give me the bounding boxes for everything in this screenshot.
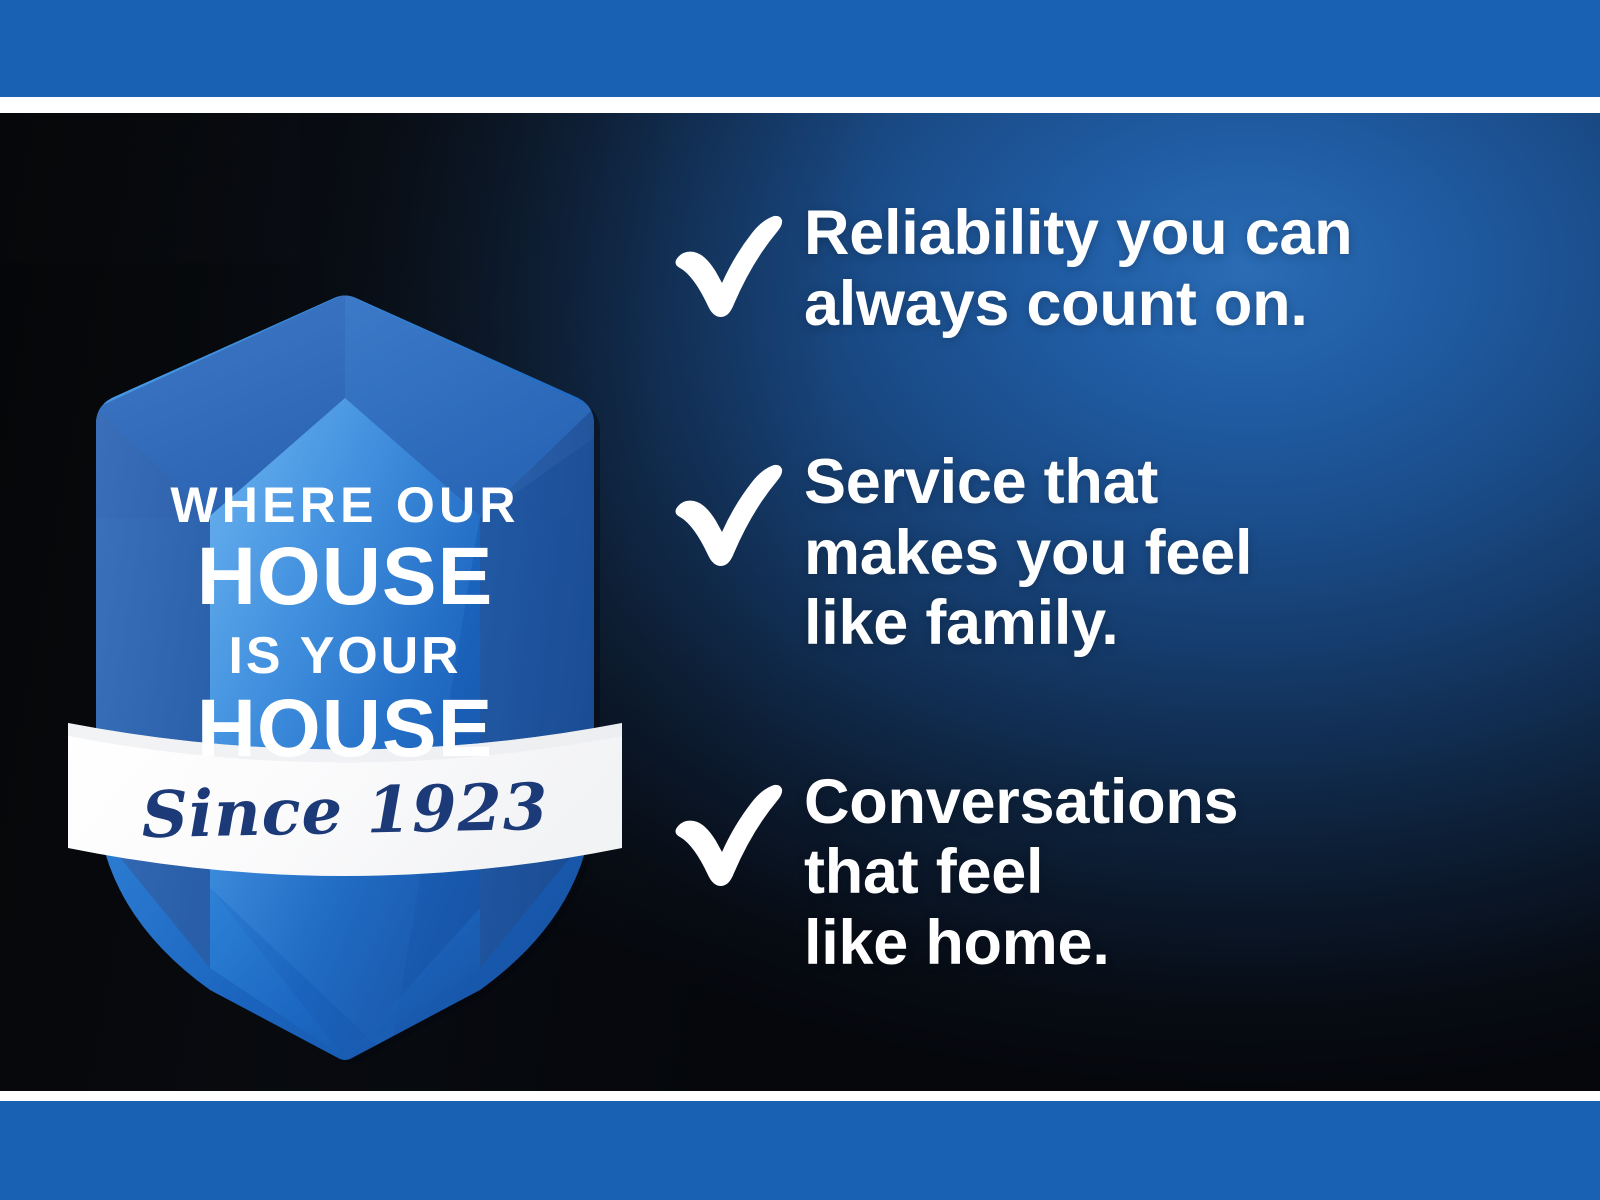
shield-badge: WHERE OUR HOUSE IS YOUR HOUSE Since 1923	[60, 268, 630, 1058]
grain-texture	[0, 113, 300, 263]
benefit-item: Conversations that feel like home.	[672, 767, 1552, 979]
top-accent-bar	[0, 0, 1600, 97]
benefit-item: Reliability you can always count on.	[672, 198, 1552, 339]
bottom-accent-bar	[0, 1101, 1600, 1200]
check-icon	[672, 767, 804, 889]
check-icon	[672, 198, 804, 320]
benefit-text: Conversations that feel like home.	[804, 767, 1552, 979]
benefit-text: Service that makes you feel like family.	[804, 447, 1552, 659]
benefit-item: Service that makes you feel like family.	[672, 447, 1552, 659]
check-icon	[672, 447, 804, 569]
promo-graphic: WHERE OUR HOUSE IS YOUR HOUSE Since 1923…	[0, 0, 1600, 1200]
benefits-list: Reliability you can always count on. Ser…	[672, 198, 1552, 978]
benefit-text: Reliability you can always count on.	[804, 198, 1552, 339]
main-canvas: WHERE OUR HOUSE IS YOUR HOUSE Since 1923…	[0, 113, 1600, 1091]
